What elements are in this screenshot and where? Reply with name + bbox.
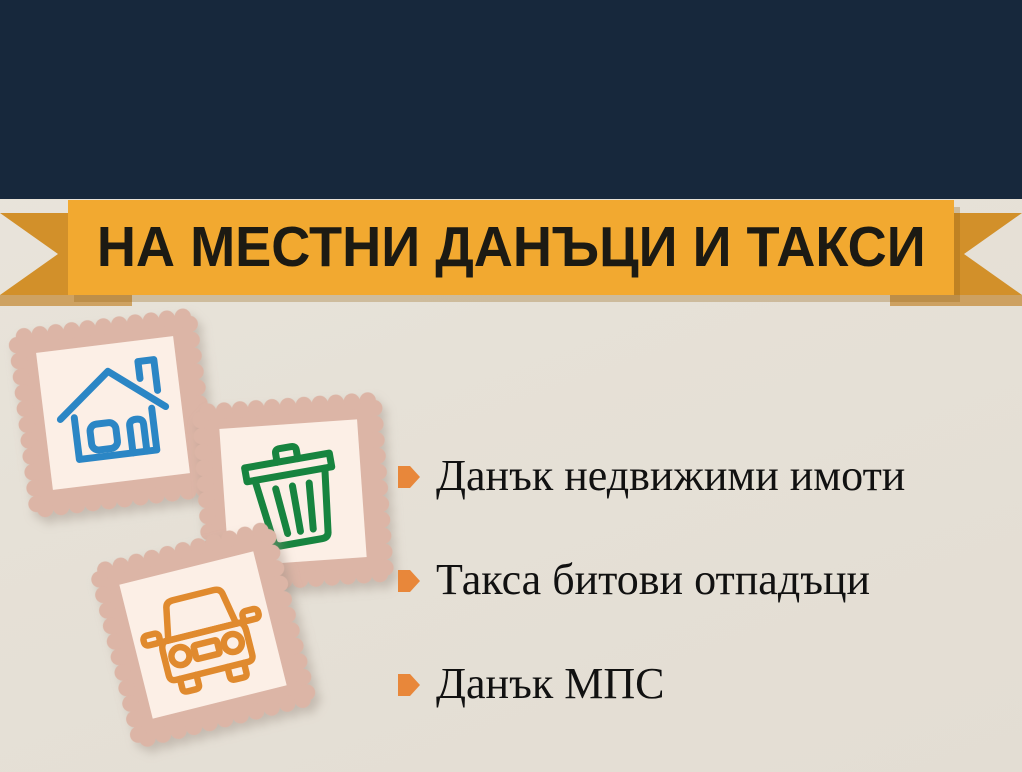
- list-item-label: Такса битови отпадъци: [436, 556, 870, 604]
- ribbon-panel: НА МЕСТНИ ДАНЪЦИ И ТАКСИ: [68, 200, 954, 295]
- list-item-label: Данък недвижими имоти: [436, 452, 905, 500]
- tax-type-list: Данък недвижими имоти Такса битови отпад…: [398, 424, 1008, 736]
- ribbon-label: НА МЕСТНИ ДАНЪЦИ И ТАКСИ: [97, 219, 926, 276]
- subtitle-ribbon: НА МЕСТНИ ДАНЪЦИ И ТАКСИ: [0, 200, 1022, 308]
- bullet-arrow-icon: [398, 672, 420, 698]
- header-bar: [0, 0, 1022, 199]
- ribbon-tail-right-shadow: [890, 295, 1022, 306]
- list-item[interactable]: Такса битови отпадъци: [398, 528, 1008, 632]
- list-item-label: Данък МПС: [436, 660, 664, 708]
- list-item[interactable]: Данък недвижими имоти: [398, 424, 1008, 528]
- list-item[interactable]: Данък МПС: [398, 632, 1008, 736]
- bullet-arrow-icon: [398, 464, 420, 490]
- stamp-card-property: [7, 307, 219, 519]
- ribbon-tail-left-shadow: [0, 295, 132, 306]
- bullet-arrow-icon: [398, 568, 420, 594]
